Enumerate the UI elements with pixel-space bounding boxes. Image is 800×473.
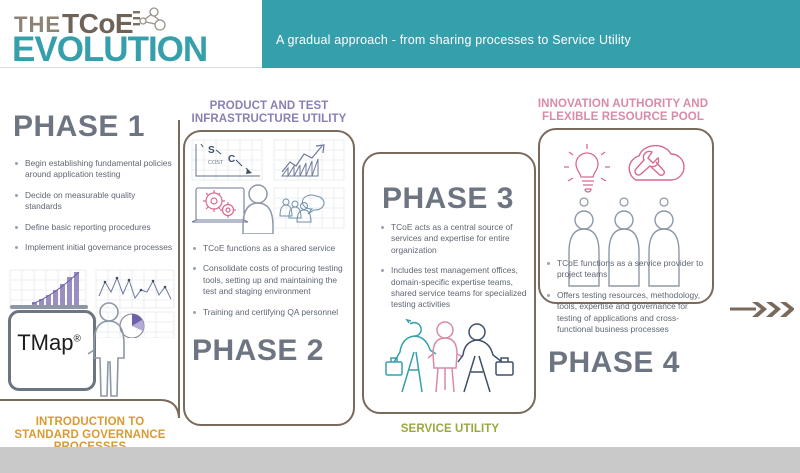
logo-evolution-text: EVOLUTION xyxy=(12,30,207,70)
list-item: TCoE acts as a central source of service… xyxy=(380,222,528,256)
three-walking-people-icon xyxy=(372,310,522,400)
list-item: Define basic reporting procedures xyxy=(14,222,174,233)
cloud-wrench-icon xyxy=(629,146,684,180)
cost-node-s-label: S xyxy=(208,145,215,156)
tmap-registered-mark: ® xyxy=(73,334,80,345)
phase-2-bullets: TCoE functions as a shared service Conso… xyxy=(192,243,344,327)
tmap-label-text: TMap xyxy=(17,330,73,355)
header: A gradual approach - from sharing proces… xyxy=(0,0,800,68)
phase-4-caption: INNOVATION AUTHORITY AND FLEXIBLE RESOUR… xyxy=(534,98,712,123)
list-item: Begin establishing fundamental policies … xyxy=(14,158,174,181)
phase-3-caption: SERVICE UTILITY xyxy=(380,423,520,436)
phase-2-icon-grid: S C COST xyxy=(190,138,346,234)
person-silhouette-icon xyxy=(88,300,130,400)
cost-axis-label: COST xyxy=(208,160,224,166)
list-item: Training and certifying QA personnel xyxy=(192,307,344,318)
chevron-arrow-right-icon xyxy=(730,300,794,328)
phase-1-caption: INTRODUCTION TO STANDARD GOVERNANCE PROC… xyxy=(4,416,176,447)
phase-1-bullets: Begin establishing fundamental policies … xyxy=(14,158,174,262)
list-item: Includes test management offices, domain… xyxy=(380,265,528,311)
list-item: TCoE functions as a service provider to … xyxy=(546,258,714,281)
phase-3-bullets: TCoE acts as a central source of service… xyxy=(380,222,528,320)
header-subtitle: A gradual approach - from sharing proces… xyxy=(276,33,631,47)
list-item: Consolidate costs of procuring testing t… xyxy=(192,263,344,297)
phase-4-bullets: TCoE functions as a service provider to … xyxy=(546,258,714,344)
phase-2-title: PHASE 2 xyxy=(192,334,324,368)
tmap-label: TMap® xyxy=(8,330,90,356)
phase-3-title: PHASE 3 xyxy=(382,182,514,216)
infographic-canvas: A gradual approach - from sharing proces… xyxy=(0,0,800,447)
list-item: Decide on measurable quality standards xyxy=(14,190,174,213)
phase-4-title: PHASE 4 xyxy=(548,346,680,380)
phase-2-caption: PRODUCT AND TEST INFRASTRUCTURE UTILITY xyxy=(188,100,350,125)
phase-1-title: PHASE 1 xyxy=(13,110,145,144)
tmap-card-top-bar xyxy=(10,305,88,309)
list-item: TCoE functions as a shared service xyxy=(192,243,344,254)
cost-node-c-label: C xyxy=(228,154,235,165)
list-item: Offers testing resources, methodology, t… xyxy=(546,290,714,336)
phase-1-divider xyxy=(178,120,180,418)
list-item: Implement initial governance processes xyxy=(14,242,174,253)
lightbulb-idea-icon xyxy=(564,144,610,192)
header-divider xyxy=(0,67,262,68)
